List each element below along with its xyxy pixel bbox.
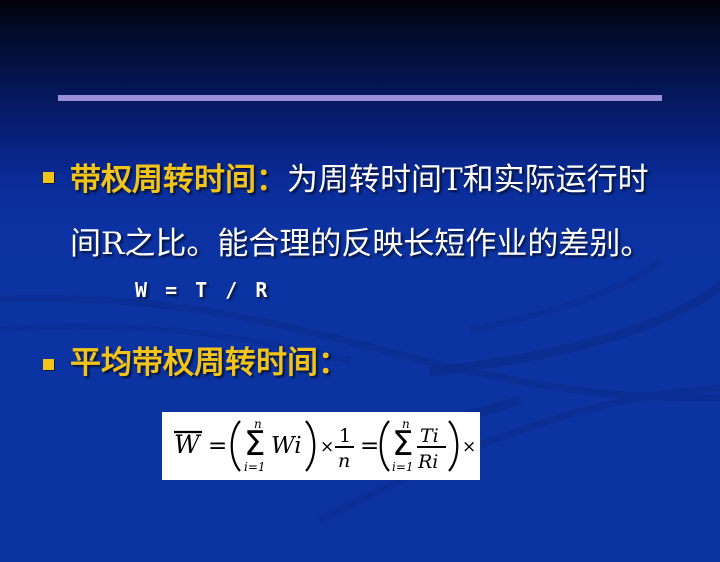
average-weighted-turnaround-equation: W = Σ n i=1 Wi × 1 n (170, 415, 476, 477)
inline-formula-w-equals-t-over-r: W = T / R (135, 278, 270, 302)
eq-equals-2: = (360, 433, 379, 459)
eq-frac1-denominator: n (338, 450, 350, 472)
eq-term-wi: Wi (271, 433, 302, 459)
eq-equals-1: = (208, 433, 227, 459)
slide-canvas: 带权周转时间：为周转时间T和实际运行时 间R之比。能合理的反映长短作业的差别。 … (0, 0, 720, 562)
eq-w-bar-symbol: W (174, 430, 202, 459)
eq-sigma-2-upper: n (402, 417, 410, 431)
eq-frac2-numerator-ti: Ti (420, 425, 439, 447)
title-divider-rule (58, 95, 662, 101)
bullet-marker-2 (43, 359, 54, 370)
eq-times-1: × (320, 437, 334, 457)
bullet1-body-line-1: 为周转时间T和实际运行时 (287, 162, 649, 198)
bullet-paragraph-1: 带权周转时间：为周转时间T和实际运行时 间R之比。能合理的反映长短作业的差别。 (70, 148, 710, 276)
eq-frac1-numerator: 1 (339, 425, 351, 447)
eq-sigma-2-lower: i=1 (392, 460, 414, 474)
bullet-paragraph-1-line-1: 带权周转时间：为周转时间T和实际运行时 (70, 148, 710, 212)
eq-frac2-denominator-ri: Ri (417, 451, 438, 473)
bullet1-keyword: 带权周转时间 (70, 162, 256, 198)
equation-image-box: W = Σ n i=1 Wi × 1 n (162, 412, 480, 480)
eq-sigma-1-lower: i=1 (244, 460, 266, 474)
eq-sigma-1-upper: n (254, 417, 262, 431)
bullet1-body-line-2: 间R之比。能合理的反映长短作业的差别。 (70, 226, 651, 262)
bullet-marker-1 (43, 172, 54, 183)
bullet1-colon: ： (256, 162, 287, 198)
eq-times-2: × (462, 437, 476, 457)
bullet-paragraph-1-line-2: 间R之比。能合理的反映长短作业的差别。 (70, 212, 710, 276)
bullet-heading-2: 平均带权周转时间： (70, 340, 349, 386)
